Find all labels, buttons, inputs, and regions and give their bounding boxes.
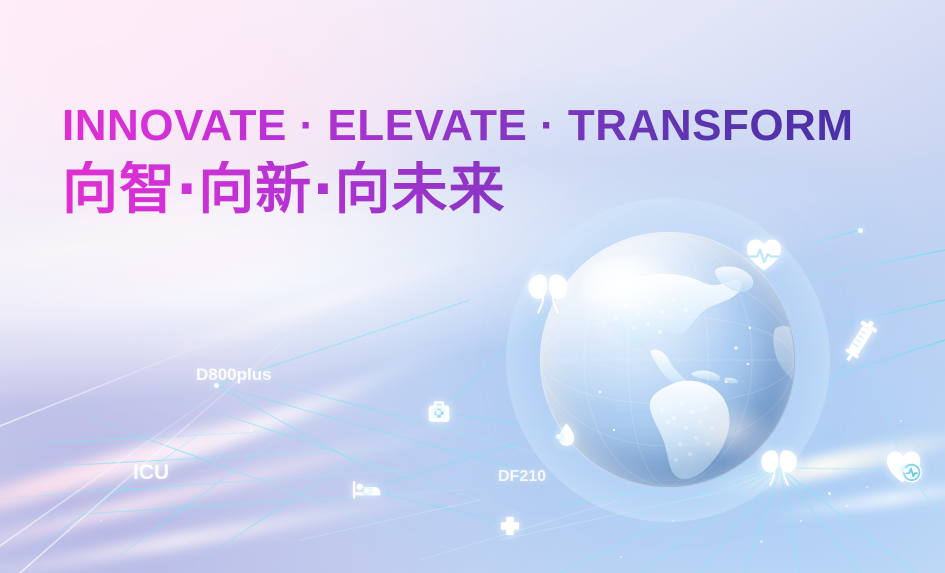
hero-headline-group: INNOVATE · ELEVATE · TRANSFORM 向智·向新·向未来 [62,104,854,220]
headline-chinese: 向智·向新·向未来 [62,161,854,220]
network-wireframe [0,0,945,573]
headline-english: INNOVATE · ELEVATE · TRANSFORM [62,104,854,149]
globe-specular-highlight [581,255,683,322]
hero-banner: INNOVATE · ELEVATE · TRANSFORM 向智·向新·向未来… [0,0,945,573]
globe-secondary-highlight [688,401,775,462]
earth-globe [540,232,796,488]
